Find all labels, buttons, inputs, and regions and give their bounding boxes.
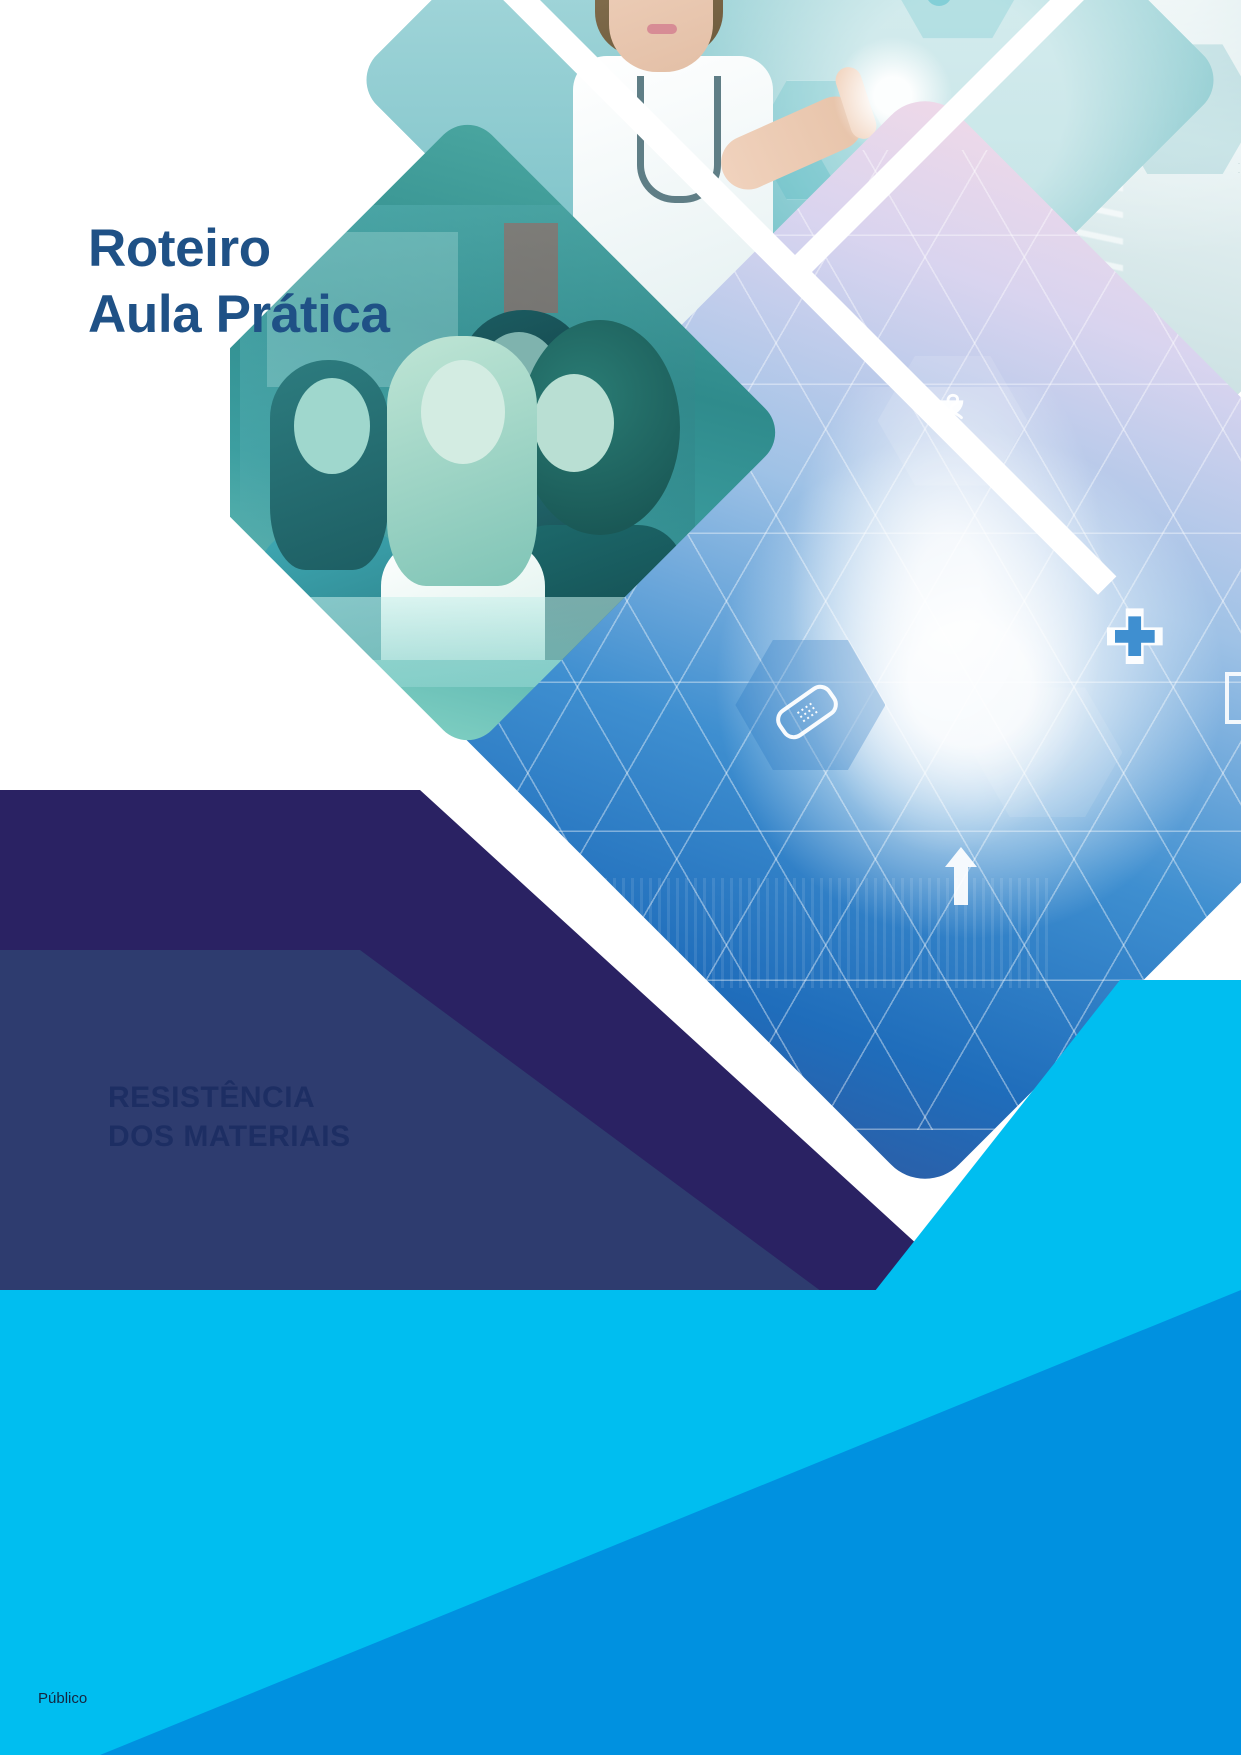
arrow-up-icon — [941, 845, 981, 907]
holographic-hexagon — [889, 0, 1026, 39]
face — [294, 378, 370, 474]
classroom-poster — [504, 223, 558, 313]
classification-label: Público — [38, 1690, 87, 1707]
face — [534, 374, 614, 472]
square-icon — [1225, 672, 1241, 724]
face — [421, 360, 505, 464]
cover-page: · · · · · · · · · · · · · · · · · · · · … — [0, 0, 1241, 1755]
subject-title: RESISTÊNCIA DOS MATERIAIS — [108, 1078, 351, 1156]
lips — [647, 24, 677, 34]
page-title: Roteiro Aula Prática — [88, 216, 390, 347]
